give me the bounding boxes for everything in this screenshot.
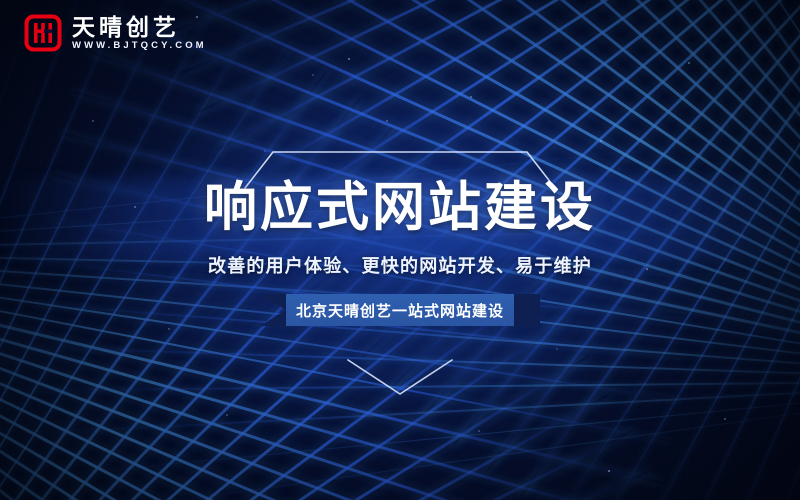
hero-content: 响应式网站建设 改善的用户体验、更快的网站开发、易于维护 北京天晴创艺一站式网站… (0, 0, 800, 500)
tagline-left-cap (260, 294, 286, 326)
logo-wordmark: 天晴创艺 WWW.BJTQCY.COM (72, 16, 207, 51)
brand-logo[interactable]: 天晴创艺 WWW.BJTQCY.COM (24, 14, 207, 52)
logo-company-name: 天晴创艺 (72, 16, 207, 39)
tagline-text: 北京天晴创艺一站式网站建设 (296, 300, 504, 321)
page-subtitle: 改善的用户体验、更快的网站开发、易于维护 (0, 252, 800, 278)
tianqing-chuangyi-logo-mark-icon (24, 14, 62, 52)
down-chevron-icon (340, 358, 460, 398)
hero-banner: 响应式网站建设 改善的用户体验、更快的网站开发、易于维护 北京天晴创艺一站式网站… (0, 0, 800, 500)
tagline-body: 北京天晴创艺一站式网站建设 (286, 294, 514, 326)
page-title: 响应式网站建设 (0, 178, 800, 239)
tagline-right-cap (514, 294, 540, 326)
logo-website-url: WWW.BJTQCY.COM (72, 41, 207, 51)
tagline-banner: 北京天晴创艺一站式网站建设 (260, 294, 540, 326)
